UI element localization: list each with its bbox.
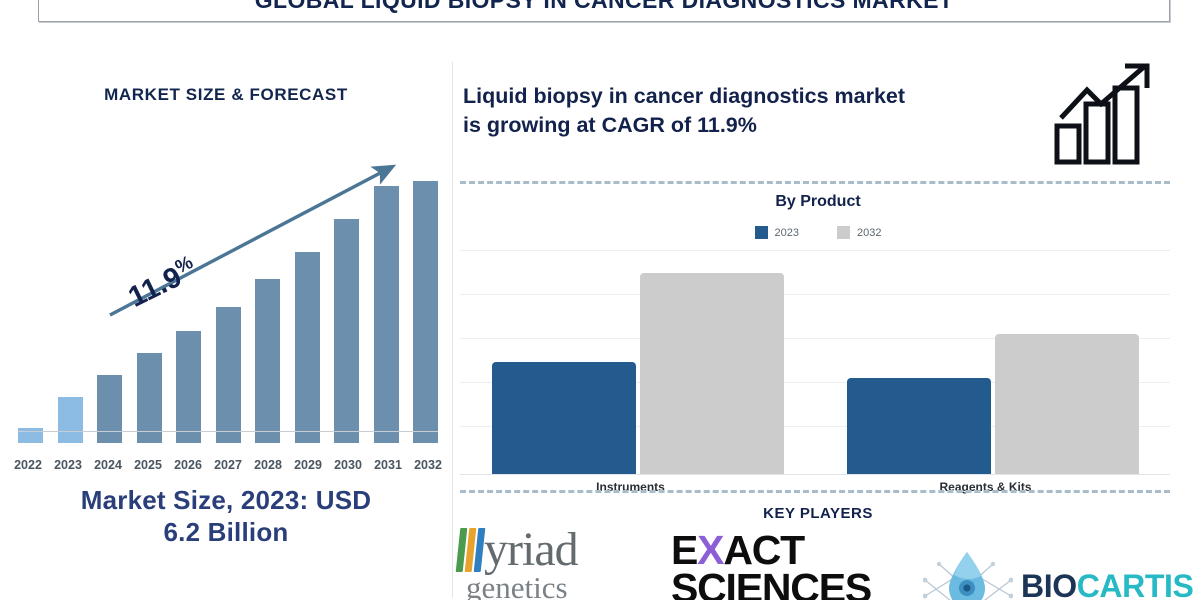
market-size-year-label: 2024 bbox=[92, 458, 124, 472]
biocartis-wordmark: BIOCARTIS bbox=[1021, 568, 1193, 600]
by-product-bar bbox=[640, 273, 784, 475]
gridline bbox=[460, 250, 1170, 251]
market-size-bar bbox=[58, 397, 83, 443]
legend-label: 2023 bbox=[775, 227, 799, 239]
market-size-year-label: 2032 bbox=[412, 458, 444, 472]
by-product-bar bbox=[847, 378, 991, 475]
by-product-title: By Product bbox=[453, 193, 1183, 211]
bar-chart-arrow-up-icon bbox=[1053, 60, 1168, 165]
by-product-bar-group bbox=[492, 273, 784, 475]
market-size-bar bbox=[176, 331, 201, 443]
cagr-headline-line-2: is growing at CAGR of 11.9% bbox=[463, 111, 1048, 140]
key-players-logos: yriad genetics EXACT SCIENCES bbox=[453, 528, 1193, 600]
market-size-bar bbox=[216, 307, 241, 444]
market-size-plot-area bbox=[18, 158, 438, 443]
cagr-headline-line-1: Liquid biopsy in cancer diagnostics mark… bbox=[463, 82, 1048, 111]
market-size-year-label: 2029 bbox=[292, 458, 324, 472]
exact-sciences-line-1: EXACT bbox=[671, 531, 871, 569]
by-product-bar bbox=[995, 334, 1139, 475]
myriad-wordmark: yriad bbox=[484, 528, 578, 572]
market-size-bar bbox=[413, 181, 438, 443]
by-product-chart bbox=[460, 250, 1170, 475]
market-size-year-labels: 2022202320242025202620272028202920302031… bbox=[12, 458, 444, 472]
by-product-bar bbox=[492, 362, 636, 475]
exact-sciences-line-2: SCIENCES bbox=[671, 569, 871, 600]
page-title-box: GLOBAL LIQUID BIOPSY IN CANCER DIAGNOSTI… bbox=[38, 0, 1170, 22]
divider-bottom bbox=[460, 490, 1170, 493]
legend-swatch bbox=[837, 226, 850, 239]
by-product-x-axis bbox=[460, 474, 1170, 476]
myriad-mark-icon bbox=[456, 528, 486, 572]
market-size-bar bbox=[334, 219, 359, 443]
market-size-year-label: 2031 bbox=[372, 458, 404, 472]
key-players-title: KEY PLAYERS bbox=[453, 505, 1183, 522]
market-size-year-label: 2027 bbox=[212, 458, 244, 472]
market-size-callout: Market Size, 2023: USD 6.2 Billion bbox=[0, 485, 452, 548]
market-size-forecast-chart: 11.9% bbox=[18, 150, 438, 455]
cagr-headline: Liquid biopsy in cancer diagnostics mark… bbox=[463, 82, 1048, 140]
market-size-bar bbox=[137, 353, 162, 443]
right-panel: Liquid biopsy in cancer diagnostics mark… bbox=[453, 60, 1200, 600]
logo-biocartis: BIOCARTIS bbox=[923, 550, 1193, 600]
page-title: GLOBAL LIQUID BIOPSY IN CANCER DIAGNOSTI… bbox=[255, 0, 954, 14]
legend-item[interactable]: 2023 bbox=[755, 226, 799, 239]
market-size-year-label: 2023 bbox=[52, 458, 84, 472]
market-size-year-label: 2028 bbox=[252, 458, 284, 472]
market-size-year-label: 2026 bbox=[172, 458, 204, 472]
myriad-subtitle: genetics bbox=[466, 572, 578, 600]
market-size-x-axis bbox=[18, 431, 438, 432]
market-size-bar bbox=[295, 252, 320, 443]
market-size-bars bbox=[18, 158, 438, 443]
legend-swatch bbox=[755, 226, 768, 239]
legend-item[interactable]: 2032 bbox=[837, 226, 881, 239]
legend-label: 2032 bbox=[857, 227, 881, 239]
logo-myriad-genetics: yriad genetics bbox=[458, 528, 578, 600]
market-size-year-label: 2025 bbox=[132, 458, 164, 472]
market-size-bar bbox=[255, 279, 280, 443]
infographic-root: GLOBAL LIQUID BIOPSY IN CANCER DIAGNOSTI… bbox=[0, 0, 1200, 600]
by-product-bar-groups bbox=[460, 257, 1170, 475]
market-size-line-1: Market Size, 2023: USD bbox=[0, 485, 452, 517]
biocartis-cartis: CARTIS bbox=[1077, 568, 1194, 600]
market-size-bar bbox=[97, 375, 122, 443]
divider-top bbox=[460, 181, 1170, 184]
biocartis-bio: BIO bbox=[1021, 568, 1077, 600]
market-size-forecast-heading: MARKET SIZE & FORECAST bbox=[0, 85, 452, 105]
by-product-bar-group bbox=[847, 334, 1139, 475]
market-size-forecast-panel: MARKET SIZE & FORECAST 11.9% 20222023202… bbox=[0, 60, 452, 600]
market-size-year-label: 2030 bbox=[332, 458, 364, 472]
market-size-bar bbox=[374, 186, 399, 443]
market-size-line-2: 6.2 Billion bbox=[0, 517, 452, 549]
biocartis-droplet-network-icon bbox=[923, 550, 1013, 600]
logo-exact-sciences: EXACT SCIENCES bbox=[671, 531, 871, 600]
market-size-year-label: 2022 bbox=[12, 458, 44, 472]
by-product-legend: 20232032 bbox=[453, 226, 1183, 239]
